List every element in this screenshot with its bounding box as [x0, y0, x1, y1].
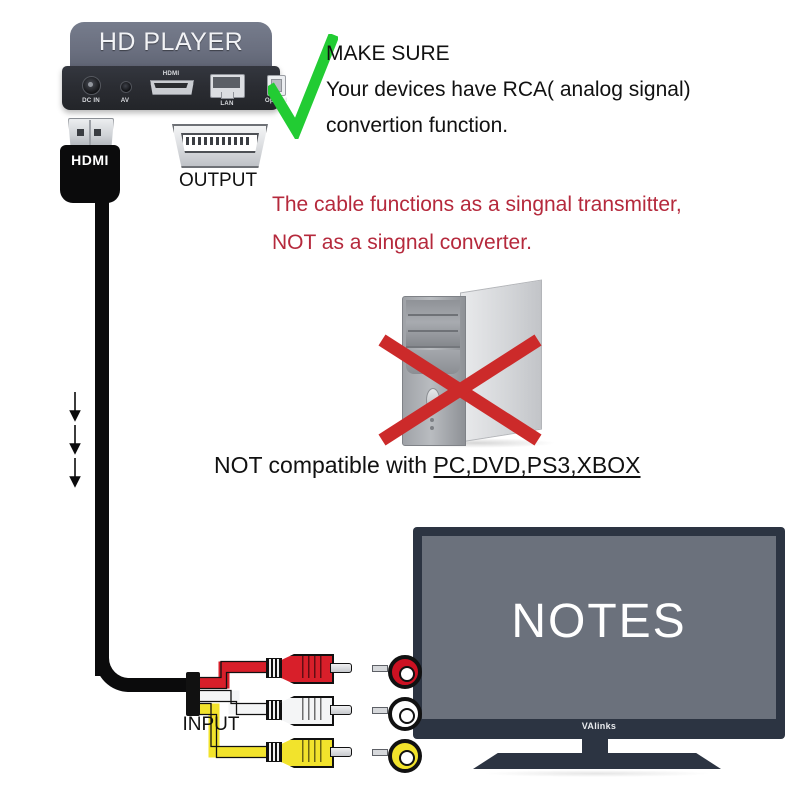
make-sure-line-2: Your devices have RCA( analog signal): [326, 72, 796, 108]
make-sure-callout: MAKE SURE Your devices have RCA( analog …: [326, 36, 796, 144]
rca-plug-red-tip: [330, 663, 352, 673]
rca-plug-yellow: [266, 738, 350, 764]
hdmi-port-cavity-icon: [154, 83, 188, 88]
rca-plug-white: [266, 696, 350, 722]
rca-plug-yellow-tip: [330, 747, 352, 757]
tv-screen-text: NOTES: [422, 594, 776, 649]
port-label-hdmi-top: HDMI: [148, 70, 194, 77]
hd-player-top-face: HD PLAYER: [70, 22, 272, 70]
hdmi-cable-vertical-run: [95, 196, 109, 676]
hdmi-output-pins-icon: [186, 137, 250, 145]
rca-jack-yellow: [388, 739, 422, 773]
rca-jack-stub-white: [372, 707, 388, 714]
hdmi-male-plug: HDMI: [60, 118, 120, 203]
rca-plug-red-ribs: [302, 656, 324, 678]
hdmi-plug-hole-right-icon: [94, 129, 101, 136]
port-label-dc-in: DC IN: [72, 97, 110, 104]
rca-plug-yellow-body: [280, 738, 334, 768]
hdmi-cable-elbow: [95, 620, 200, 692]
rca-jack-white: [388, 697, 422, 731]
port-label-lan: LAN: [208, 100, 246, 107]
rca-plug-yellow-strain-relief: [266, 742, 282, 762]
rca-plug-white-body: [280, 696, 334, 726]
rca-plug-white-tip: [330, 705, 352, 715]
arrow-down-icon: [62, 390, 88, 490]
hdmi-plug-hole-left-icon: [77, 129, 84, 136]
tv-bezel: NOTES VAlinks: [413, 527, 785, 739]
make-sure-line-1: MAKE SURE: [326, 36, 796, 72]
tv-stand-base: [473, 753, 721, 769]
rca-plug-red: [266, 654, 350, 680]
incompatible-devices: PC,DVD,PS3,XBOX: [433, 452, 640, 478]
rca-jack-stub-red: [372, 665, 388, 672]
lan-port-notch-icon: [221, 92, 234, 99]
pc-tower-bay-slot: [408, 314, 458, 316]
hd-player-title: HD PLAYER: [70, 28, 272, 57]
warning-callout: The cable functions as a singnal transmi…: [272, 186, 792, 262]
port-label-av: AV: [110, 97, 140, 104]
rca-jack-red: [388, 655, 422, 689]
television: NOTES VAlinks: [413, 527, 785, 767]
output-label: OUTPUT: [166, 170, 270, 192]
rca-plug-white-ribs: [302, 698, 324, 720]
rca-plug-red-strain-relief: [266, 658, 282, 678]
tv-screen: NOTES: [422, 536, 776, 719]
hd-player-device: HD PLAYER DC IN AV HDMI LAN Optical: [62, 22, 280, 112]
rca-plug-white-strain-relief: [266, 700, 282, 720]
input-label: INPUT: [166, 714, 256, 736]
warning-line-2: NOT as a singnal converter.: [272, 224, 792, 262]
tv-shadow: [485, 770, 709, 777]
red-cross-icon: [370, 330, 550, 450]
lan-port-cavity-icon: [213, 77, 240, 88]
dc-in-pin-icon: [88, 82, 93, 87]
infographic-canvas: HD PLAYER DC IN AV HDMI LAN Optical MAKE…: [0, 0, 800, 800]
warning-line-1: The cable functions as a singnal transmi…: [272, 186, 792, 224]
rca-splitter-block: [186, 672, 200, 716]
rca-jack-stub-yellow: [372, 749, 388, 756]
rca-jack-white-hole: [399, 708, 415, 724]
rca-jack-yellow-hole: [399, 750, 415, 766]
make-sure-line-3: convertion function.: [326, 108, 796, 144]
hd-player-rear-panel: DC IN AV HDMI LAN Optical: [62, 66, 280, 110]
incompatible-prefix: NOT compatible with: [214, 452, 433, 478]
tv-brand-label: VAlinks: [413, 721, 785, 731]
av-port-icon: [120, 81, 132, 93]
hdmi-output-port: [172, 124, 264, 164]
hdmi-plug-seam-icon: [89, 120, 91, 146]
hdmi-plug-label: HDMI: [60, 152, 120, 168]
incompatible-callout: NOT compatible with PC,DVD,PS3,XBOX: [214, 452, 774, 479]
rca-plug-yellow-ribs: [302, 740, 324, 762]
rca-plug-red-body: [280, 654, 334, 684]
rca-jack-red-hole: [399, 666, 415, 682]
